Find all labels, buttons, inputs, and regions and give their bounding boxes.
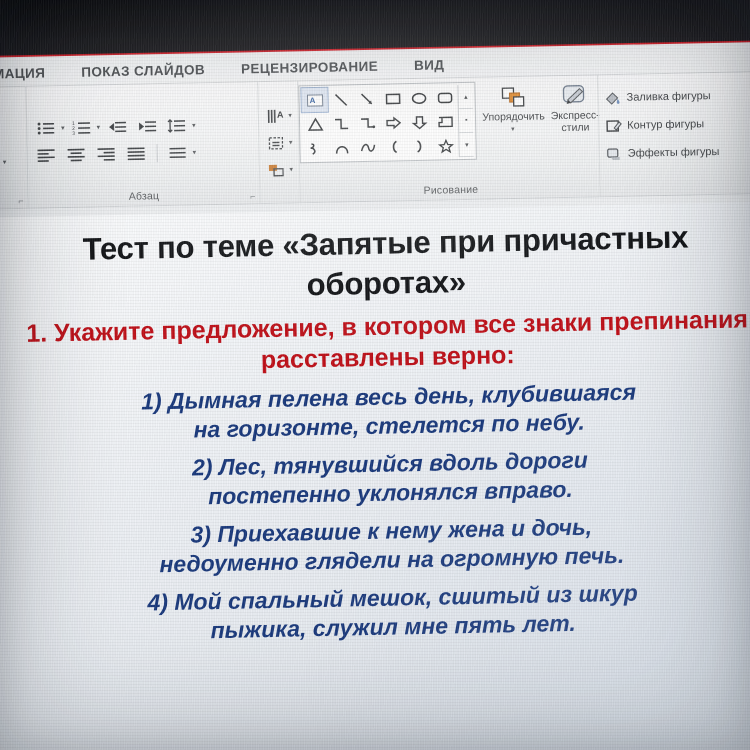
smartart-chevron-down-icon[interactable]: ▾ <box>289 165 293 173</box>
quick-styles-label: Экспресс-стили <box>551 110 600 134</box>
shape-arrow-down-icon[interactable] <box>406 110 432 135</box>
toolbar-divider <box>156 144 157 162</box>
shape-textbox-icon[interactable]: A <box>302 88 328 113</box>
shape-line-icon[interactable] <box>328 87 354 112</box>
tab-animation[interactable]: МАЦИЯ <box>0 65 46 86</box>
ribbon-group-font[interactable]: A ▾ ⌐ <box>0 87 28 209</box>
align-center-icon[interactable] <box>63 142 89 167</box>
arrange-button[interactable]: Упорядочить ▾ <box>482 80 546 133</box>
shape-outline-icon <box>605 117 622 133</box>
quick-styles-icon <box>558 83 593 110</box>
slide-editing-area[interactable]: Тест по теме «Запятые при причастных обо… <box>0 193 750 750</box>
bullet-list-icon[interactable] <box>33 116 59 141</box>
ribbon-group-paragraph[interactable]: ▾ 1 2 3 ▾ <box>25 82 259 208</box>
shapes-gallery-scrollbar[interactable]: ▴ ▪ ▾ <box>458 85 474 157</box>
svg-text:A: A <box>277 109 284 119</box>
ribbon[interactable]: A ▾ ⌐ <box>0 71 750 210</box>
slide-title[interactable]: Тест по теме «Запятые при причастных обо… <box>4 216 750 311</box>
align-left-icon[interactable] <box>33 143 59 168</box>
bullet-list-chevron-down-icon[interactable]: ▾ <box>61 124 65 132</box>
shape-arrow-right-icon[interactable] <box>380 110 406 135</box>
shape-oval-icon[interactable] <box>406 86 432 111</box>
text-direction-chevron-down-icon[interactable]: ▾ <box>288 111 292 119</box>
shapes-gallery[interactable]: A <box>299 82 478 164</box>
arrange-icon <box>498 85 529 112</box>
font-dialog-launcher-icon[interactable]: ⌐ <box>18 196 23 206</box>
ribbon-group-shape-format[interactable]: Заливка фигуры Контур фигуры <box>597 72 749 196</box>
shape-triangle-icon[interactable] <box>302 112 328 137</box>
shape-effects-label: Эффекты фигуры <box>628 145 720 159</box>
answer-option-2[interactable]: 2) Лес, тянувшийся вдоль дороги постепен… <box>9 442 750 514</box>
shape-effects-button[interactable]: Эффекты фигуры <box>605 138 742 166</box>
tab-review[interactable]: РЕЦЕНЗИРОВАНИЕ <box>241 59 378 82</box>
answer-options-list: 1) Дымная пелена весь день, клубившаяся … <box>7 375 750 648</box>
shapes-scroll-thumb[interactable]: ▪ <box>459 109 473 133</box>
tab-view[interactable]: ВИД <box>414 57 445 78</box>
shape-line-arrow-icon[interactable] <box>354 87 380 112</box>
align-text-chevron-down-icon[interactable]: ▾ <box>289 138 293 146</box>
shape-fill-button[interactable]: Заливка фигуры <box>604 82 741 110</box>
quick-styles-button[interactable]: Экспресс-стили <box>550 79 600 134</box>
columns-icon[interactable] <box>164 140 190 165</box>
shapes-grid[interactable]: A <box>302 85 459 160</box>
powerpoint-window: ст по теме «Запятые при причастных оборо… <box>0 7 750 750</box>
answer-option-3[interactable]: 3) Приехавшие к нему жена и дочь, недоум… <box>10 509 750 581</box>
arrange-label: Упорядочить <box>482 111 545 124</box>
decrease-indent-icon[interactable] <box>104 114 130 139</box>
increase-indent-icon[interactable] <box>134 114 160 139</box>
shape-curve-icon[interactable] <box>355 135 381 160</box>
tab-slideshow[interactable]: ПОКАЗ СЛАЙДОВ <box>81 62 205 84</box>
arrange-chevron-down-icon[interactable]: ▾ <box>511 125 515 133</box>
shape-elbow-connector-icon[interactable] <box>328 111 354 136</box>
shape-arc-icon[interactable] <box>329 135 355 160</box>
numbered-list-chevron-down-icon[interactable]: ▾ <box>97 123 101 131</box>
shape-right-brace-icon[interactable] <box>407 134 433 159</box>
shape-freeform-icon[interactable] <box>303 136 329 161</box>
shape-rounded-rectangle-icon[interactable] <box>432 85 458 110</box>
shape-fill-label: Заливка фигуры <box>626 90 710 104</box>
text-direction-icon[interactable]: A <box>265 104 287 128</box>
columns-chevron-down-icon[interactable]: ▾ <box>193 148 197 156</box>
font-color-icon[interactable]: A <box>0 150 1 175</box>
shape-rectangle-icon[interactable] <box>380 86 406 111</box>
convert-to-smartart-icon[interactable] <box>266 158 288 182</box>
svg-text:A: A <box>309 96 315 105</box>
shapes-scroll-up-icon[interactable]: ▴ <box>459 85 473 109</box>
ribbon-group-drawing[interactable]: A <box>297 75 599 202</box>
answer-option-4[interactable]: 4) Мой спальный мешок, сшитый из шкур пы… <box>11 576 750 648</box>
font-color-chevron-down-icon[interactable]: ▾ <box>3 158 7 166</box>
line-spacing-chevron-down-icon[interactable]: ▾ <box>192 121 196 129</box>
answer-option-1[interactable]: 1) Дымная пелена весь день, клубившаяся … <box>7 375 750 447</box>
shape-outline-label: Контур фигуры <box>627 118 704 132</box>
line-spacing-icon[interactable] <box>164 113 190 138</box>
align-right-icon[interactable] <box>93 141 119 166</box>
paragraph-dialog-launcher-icon[interactable]: ⌐ <box>250 191 255 201</box>
ribbon-group-text-tools[interactable]: A ▾ ▾ <box>257 81 299 203</box>
question-text[interactable]: 1. Укажите предложение, в котором все зн… <box>6 304 750 380</box>
slide-canvas[interactable]: Тест по теме «Запятые при причастных обо… <box>0 201 750 750</box>
align-text-icon[interactable] <box>265 131 287 155</box>
svg-text:3: 3 <box>72 130 75 135</box>
shape-elbow-connector-arrow-icon[interactable] <box>354 111 380 136</box>
monitor-photo: ст по теме «Запятые при причастных оборо… <box>0 0 750 750</box>
ribbon-group-text-tools-label <box>267 199 294 203</box>
shapes-scroll-more-icon[interactable]: ▾ <box>460 133 474 157</box>
shape-left-brace-icon[interactable] <box>381 134 407 159</box>
shape-outline-button[interactable]: Контур фигуры <box>605 110 742 138</box>
align-justify-icon[interactable] <box>123 141 149 166</box>
shape-pentagon-notch-icon[interactable] <box>432 109 458 134</box>
shape-effects-icon <box>606 145 623 161</box>
shape-fill-icon <box>604 89 621 105</box>
numbered-list-icon[interactable]: 1 2 3 <box>68 115 94 140</box>
shape-star-icon[interactable] <box>433 133 459 158</box>
